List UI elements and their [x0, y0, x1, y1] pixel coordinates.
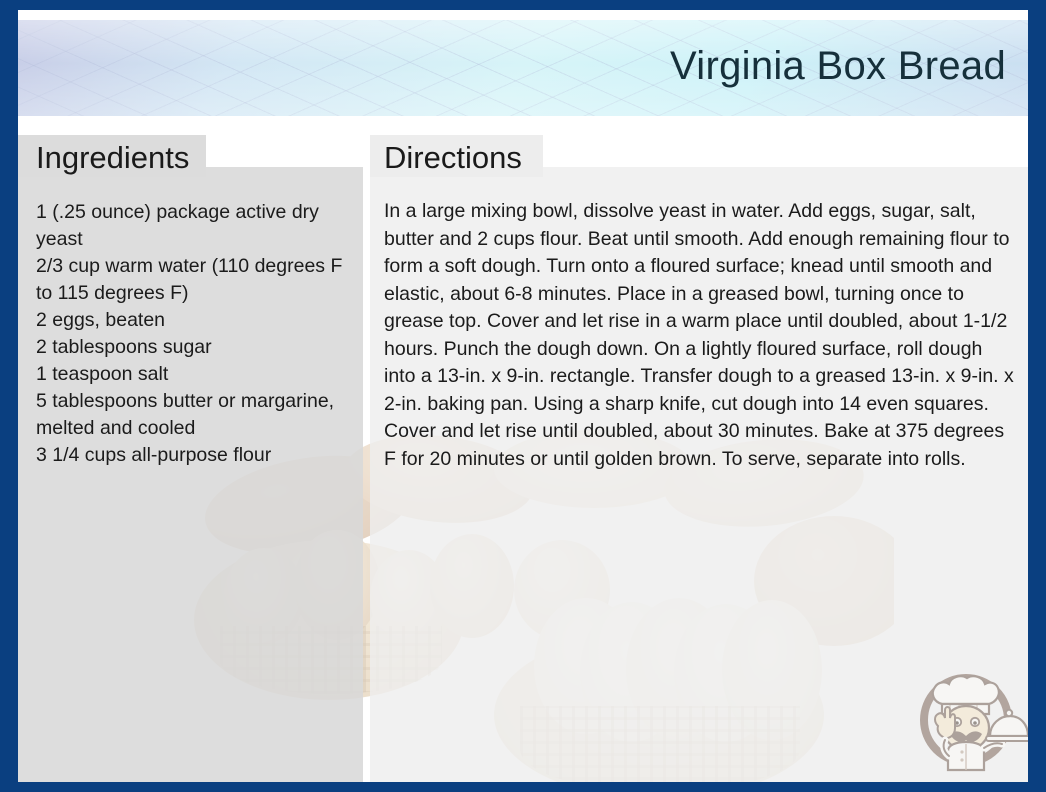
list-item: 2/3 cup warm water (110 degrees F to 115… — [36, 253, 358, 307]
ingredients-heading: Ingredients — [36, 140, 189, 176]
directions-heading: Directions — [384, 140, 522, 176]
chef-mascot-logo — [904, 652, 1028, 776]
page-title: Virginia Box Bread — [670, 44, 1006, 89]
recipe-card: Virginia Box Bread Ingredi — [0, 0, 1046, 792]
list-item: 3 1/4 cups all-purpose flour — [36, 442, 358, 469]
ingredients-list: 1 (.25 ounce) package active dry yeast 2… — [36, 199, 358, 469]
list-item: 2 eggs, beaten — [36, 307, 358, 334]
header-banner: Virginia Box Bread — [18, 20, 1028, 116]
list-item: 1 teaspoon salt — [36, 361, 358, 388]
directions-text: In a large mixing bowl, dissolve yeast i… — [384, 198, 1016, 473]
chef-coat — [948, 742, 984, 770]
page-surface: Virginia Box Bread Ingredi — [18, 10, 1028, 782]
list-item: 2 tablespoons sugar — [36, 334, 358, 361]
list-item: 1 (.25 ounce) package active dry yeast — [36, 199, 358, 253]
list-item: 5 tablespoons butter or margarine, melte… — [36, 388, 358, 442]
